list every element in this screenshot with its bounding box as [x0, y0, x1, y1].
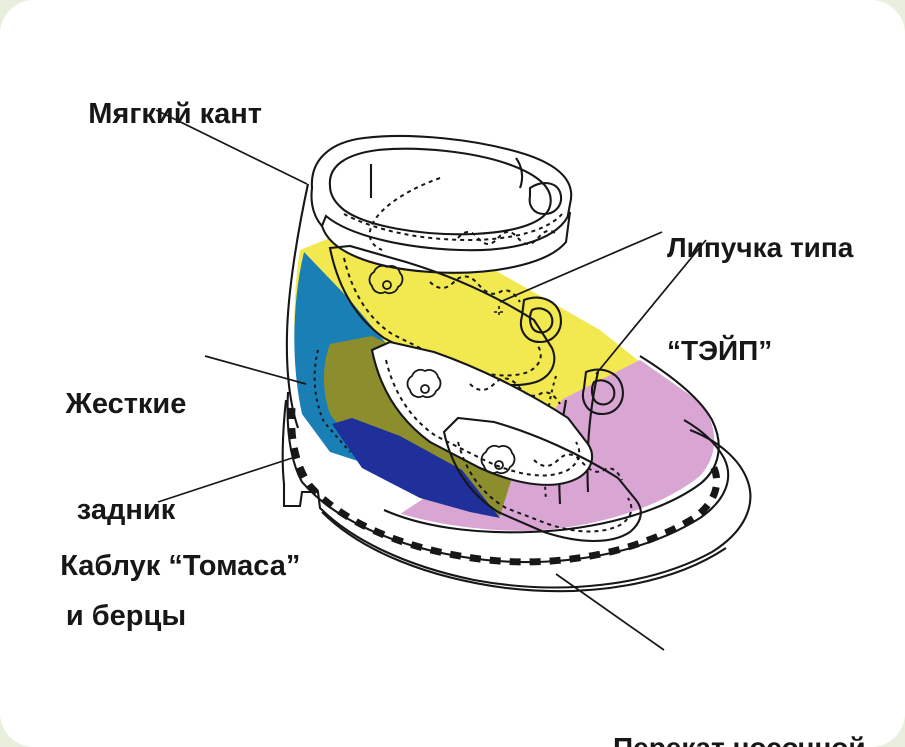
label-stiff-line1: Жесткие	[46, 387, 206, 422]
leader-toe-roll	[556, 574, 664, 650]
label-toe-roll: Перекат носочной части подошвы	[613, 663, 866, 747]
diagram-canvas: Мягкий кант Липучка типа “ТЭЙП” Жесткие …	[0, 0, 905, 747]
label-stiff-counter: Жесткие задник и берцы	[46, 316, 206, 705]
label-thomas-heel-text: Каблук “Томаса”	[60, 550, 300, 582]
label-tape: Липучка типа “ТЭЙП”	[667, 163, 853, 436]
label-tape-line2: “ТЭЙП”	[667, 334, 853, 368]
label-soft-edge-text: Мягкий кант	[88, 98, 262, 130]
label-toe-roll-line1: Перекат носочной	[613, 731, 866, 747]
label-thomas-heel: Каблук “Томаса”	[28, 514, 300, 620]
leader-stiff	[205, 356, 306, 384]
label-tape-line1: Липучка типа	[667, 231, 853, 265]
label-soft-edge: Мягкий кант	[56, 62, 262, 168]
